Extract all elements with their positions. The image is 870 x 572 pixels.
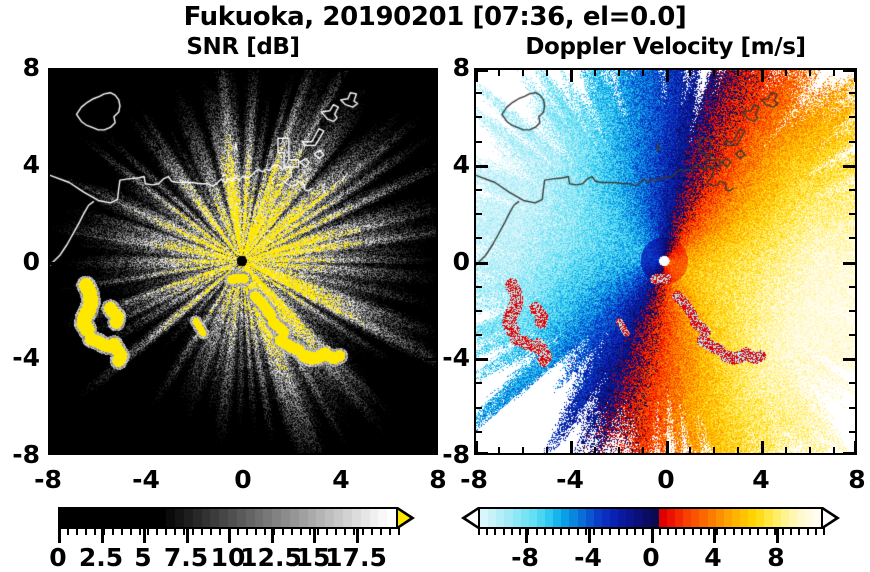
x-minor-tick — [267, 447, 269, 455]
colorbar-swatch — [202, 509, 211, 527]
colorbar-swatch — [148, 509, 157, 527]
colorbar-minor-tick — [519, 527, 521, 535]
y-minor-tick — [474, 310, 482, 312]
colorbar-minor-tick — [626, 527, 628, 535]
y-minor-tick — [48, 334, 56, 336]
colorbar-minor-tick — [165, 527, 167, 535]
colorbar-minor-tick — [708, 527, 710, 535]
colorbar-swatch — [586, 509, 594, 527]
y-minor-tick — [48, 310, 56, 312]
y-minor-tick — [48, 286, 56, 288]
doppler-panel-title: Doppler Velocity [m/s] — [474, 33, 857, 61]
colorbar-minor-tick — [503, 527, 505, 535]
colorbar-major-tick — [525, 527, 528, 543]
y-tick-label: -4 — [0, 345, 40, 370]
x-minor-tick — [414, 447, 416, 455]
x-minor-tick — [785, 447, 787, 455]
x-minor-tick — [292, 447, 294, 455]
colorbar-minor-tick — [192, 527, 194, 535]
x-major-tick — [146, 68, 149, 82]
x-minor-tick — [642, 68, 644, 76]
x-tick-label: 0 — [203, 467, 283, 492]
colorbar-swatch — [87, 509, 96, 527]
colorbar-swatch — [219, 509, 228, 527]
x-minor-tick — [316, 68, 318, 76]
x-minor-tick — [618, 447, 620, 455]
y-major-tick — [843, 358, 857, 361]
colorbar-minor-tick — [76, 527, 78, 535]
x-tick-label: 4 — [301, 467, 381, 492]
colorbar-swatch — [60, 509, 69, 527]
colorbar-major-tick — [776, 527, 779, 543]
colorbar-swatch — [732, 509, 740, 527]
x-minor-tick — [97, 68, 99, 76]
y-minor-tick — [474, 407, 482, 409]
y-minor-tick — [849, 310, 857, 312]
colorbar-swatch — [513, 509, 521, 527]
y-major-tick — [474, 165, 488, 168]
x-minor-tick — [713, 447, 715, 455]
colorbar-minor-tick — [112, 527, 114, 535]
x-minor-tick — [785, 68, 787, 76]
y-minor-tick — [430, 286, 438, 288]
colorbar-major-tick — [588, 527, 591, 543]
y-major-tick — [843, 452, 857, 455]
x-minor-tick — [737, 68, 739, 76]
y-tick-label: 4 — [430, 152, 470, 177]
y-minor-tick — [430, 382, 438, 384]
y-minor-tick — [430, 407, 438, 409]
x-minor-tick — [389, 447, 391, 455]
colorbar-minor-tick — [147, 527, 149, 535]
x-minor-tick — [546, 68, 548, 76]
colorbar-swatch — [325, 509, 334, 527]
colorbar-swatch — [78, 509, 87, 527]
colorbar-swatch — [104, 509, 113, 527]
colorbar-swatch — [316, 509, 325, 527]
colorbar-minor-tick — [749, 527, 751, 535]
colorbar-swatch — [352, 509, 361, 527]
colorbar-minor-tick — [389, 527, 391, 535]
colorbar-swatch — [659, 509, 667, 527]
colorbar-minor-tick — [174, 527, 176, 535]
y-minor-tick — [474, 286, 482, 288]
colorbar-minor-tick — [815, 527, 817, 535]
colorbar-minor-tick — [219, 527, 221, 535]
colorbar-minor-tick — [237, 527, 239, 535]
colorbar-minor-tick — [544, 527, 546, 535]
x-minor-tick — [498, 447, 500, 455]
colorbar-swatch — [561, 509, 569, 527]
x-major-tick — [243, 68, 246, 82]
y-minor-tick — [849, 407, 857, 409]
colorbar-minor-tick — [560, 527, 562, 535]
y-major-tick — [48, 165, 62, 168]
x-minor-tick — [498, 68, 500, 76]
y-tick-label: -8 — [0, 442, 40, 467]
colorbar-minor-tick — [335, 527, 337, 535]
colorbar-minor-tick — [300, 527, 302, 535]
colorbar-swatch — [724, 509, 732, 527]
y-major-tick — [474, 358, 488, 361]
colorbar-swatch — [131, 509, 140, 527]
colorbar-minor-tick — [183, 527, 185, 535]
colorbar-major-tick — [651, 527, 654, 543]
colorbar-minor-tick — [494, 527, 496, 535]
colorbar-swatch — [634, 509, 642, 527]
colorbar-minor-tick — [618, 527, 620, 535]
colorbar-swatch — [290, 509, 299, 527]
colorbar-swatch — [246, 509, 255, 527]
colorbar-swatch — [193, 509, 202, 527]
colorbar-major-tick — [356, 527, 359, 543]
y-minor-tick — [849, 213, 857, 215]
colorbar-swatch — [764, 509, 772, 527]
colorbar-minor-tick — [568, 527, 570, 535]
colorbar-swatch — [480, 509, 488, 527]
colorbar-minor-tick — [823, 527, 825, 535]
colorbar-minor-tick — [139, 527, 141, 535]
y-minor-tick — [474, 237, 482, 239]
doppler-colorbar-over-arrow-fill — [823, 510, 835, 526]
colorbar-swatch — [675, 509, 683, 527]
x-major-tick — [570, 68, 573, 82]
y-minor-tick — [849, 141, 857, 143]
colorbar-swatch — [521, 509, 529, 527]
y-major-tick — [474, 452, 488, 455]
x-minor-tick — [389, 68, 391, 76]
colorbar-minor-tick — [478, 527, 480, 535]
x-minor-tick — [316, 447, 318, 455]
x-minor-tick — [594, 447, 596, 455]
colorbar-swatch — [708, 509, 716, 527]
colorbar-minor-tick — [798, 527, 800, 535]
x-minor-tick — [833, 68, 835, 76]
y-minor-tick — [430, 92, 438, 94]
colorbar-minor-tick — [130, 527, 132, 535]
x-minor-tick — [72, 68, 74, 76]
x-minor-tick — [170, 447, 172, 455]
colorbar-swatch — [805, 509, 813, 527]
colorbar-minor-tick — [659, 527, 661, 535]
colorbar-minor-tick — [782, 527, 784, 535]
x-tick-label: 0 — [626, 467, 706, 492]
colorbar-minor-tick — [94, 527, 96, 535]
colorbar-minor-tick — [326, 527, 328, 535]
colorbar-swatch — [113, 509, 122, 527]
y-minor-tick — [430, 310, 438, 312]
colorbar-swatch — [578, 509, 586, 527]
y-minor-tick — [474, 334, 482, 336]
colorbar-minor-tick — [733, 527, 735, 535]
colorbar-swatch — [537, 509, 545, 527]
colorbar-swatch — [651, 509, 659, 527]
colorbar-swatch — [210, 509, 219, 527]
doppler-colorbar-under-arrow-fill — [466, 510, 478, 526]
colorbar-minor-tick — [667, 527, 669, 535]
colorbar-minor-tick — [675, 527, 677, 535]
colorbar-minor-tick — [741, 527, 743, 535]
page-title: Fukuoka, 20190201 [07:36, el=0.0] — [0, 0, 870, 34]
colorbar-minor-tick — [371, 527, 373, 535]
y-minor-tick — [849, 382, 857, 384]
colorbar-swatch — [263, 509, 272, 527]
colorbar-swatch — [594, 509, 602, 527]
y-major-tick — [474, 69, 488, 72]
colorbar-minor-tick — [201, 527, 203, 535]
colorbar-minor-tick — [552, 527, 554, 535]
colorbar-minor-tick — [264, 527, 266, 535]
x-minor-tick — [365, 68, 367, 76]
doppler-colorbar[interactable]: -8-4048 — [478, 507, 823, 567]
x-tick-label: -8 — [434, 467, 514, 492]
colorbar-swatch — [334, 509, 343, 527]
y-minor-tick — [430, 116, 438, 118]
x-minor-tick — [522, 447, 524, 455]
y-minor-tick — [849, 334, 857, 336]
colorbar-swatch — [184, 509, 193, 527]
colorbar-major-tick — [143, 527, 146, 543]
y-minor-tick — [849, 237, 857, 239]
y-minor-tick — [849, 92, 857, 94]
colorbar-swatch — [361, 509, 370, 527]
colorbar-swatch — [255, 509, 264, 527]
colorbar-swatch — [610, 509, 618, 527]
y-minor-tick — [474, 382, 482, 384]
y-major-tick — [48, 452, 62, 455]
x-major-tick — [666, 441, 669, 455]
colorbar-minor-tick — [85, 527, 87, 535]
x-minor-tick — [219, 447, 221, 455]
x-major-tick — [666, 68, 669, 82]
x-minor-tick — [219, 68, 221, 76]
x-minor-tick — [618, 68, 620, 76]
y-minor-tick — [474, 92, 482, 94]
x-major-tick — [146, 441, 149, 455]
colorbar-swatch — [387, 509, 396, 527]
colorbar-swatch — [272, 509, 281, 527]
colorbar-minor-tick — [536, 527, 538, 535]
colorbar-minor-tick — [634, 527, 636, 535]
colorbar-swatch — [667, 509, 675, 527]
y-minor-tick — [48, 382, 56, 384]
y-minor-tick — [474, 189, 482, 191]
y-minor-tick — [48, 213, 56, 215]
colorbar-swatch — [299, 509, 308, 527]
colorbar-minor-tick — [577, 527, 579, 535]
y-minor-tick — [48, 116, 56, 118]
y-minor-tick — [849, 431, 857, 433]
colorbar-swatch — [122, 509, 131, 527]
x-minor-tick — [365, 447, 367, 455]
snr-panel-title: SNR [dB] — [48, 33, 438, 61]
y-minor-tick — [48, 92, 56, 94]
colorbar-minor-tick — [790, 527, 792, 535]
y-major-tick — [843, 262, 857, 265]
x-minor-tick — [833, 447, 835, 455]
colorbar-swatch — [281, 509, 290, 527]
colorbar-minor-tick — [511, 527, 513, 535]
y-tick-label: -8 — [430, 442, 470, 467]
y-major-tick — [48, 358, 62, 361]
x-minor-tick — [72, 447, 74, 455]
y-major-tick — [843, 69, 857, 72]
colorbar-swatch — [813, 509, 821, 527]
colorbar-swatch — [683, 509, 691, 527]
x-minor-tick — [689, 68, 691, 76]
y-minor-tick — [474, 213, 482, 215]
y-minor-tick — [48, 431, 56, 433]
x-major-tick — [243, 441, 246, 455]
doppler-plot-panel[interactable] — [474, 68, 857, 455]
colorbar-swatch — [157, 509, 166, 527]
colorbar-minor-tick — [309, 527, 311, 535]
colorbar-minor-tick — [156, 527, 158, 535]
y-minor-tick — [849, 116, 857, 118]
colorbar-minor-tick — [609, 527, 611, 535]
colorbar-minor-tick — [291, 527, 293, 535]
colorbar-swatch — [343, 509, 352, 527]
colorbar-minor-tick — [362, 527, 364, 535]
x-minor-tick — [713, 68, 715, 76]
colorbar-minor-tick — [380, 527, 382, 535]
colorbar-major-tick — [313, 527, 316, 543]
colorbar-swatch — [740, 509, 748, 527]
x-minor-tick — [194, 68, 196, 76]
snr-colorbar-over-arrow-fill — [398, 510, 410, 526]
x-minor-tick — [121, 68, 123, 76]
colorbar-minor-tick — [344, 527, 346, 535]
x-minor-tick — [414, 68, 416, 76]
colorbar-swatch — [643, 509, 651, 527]
colorbar-swatch — [496, 509, 504, 527]
y-major-tick — [48, 69, 62, 72]
x-major-tick — [570, 441, 573, 455]
y-tick-label: 4 — [0, 152, 40, 177]
y-minor-tick — [430, 237, 438, 239]
colorbar-minor-tick — [317, 527, 319, 535]
x-major-tick — [341, 68, 344, 82]
x-major-tick — [761, 68, 764, 82]
colorbar-swatch — [545, 509, 553, 527]
colorbar-minor-tick — [486, 527, 488, 535]
colorbar-swatch — [95, 509, 104, 527]
colorbar-minor-tick — [700, 527, 702, 535]
y-minor-tick — [430, 189, 438, 191]
colorbar-swatch — [602, 509, 610, 527]
x-minor-tick — [546, 447, 548, 455]
x-tick-label: 4 — [721, 467, 801, 492]
y-tick-label: 0 — [0, 249, 40, 274]
y-minor-tick — [474, 141, 482, 143]
colorbar-swatch — [166, 509, 175, 527]
x-minor-tick — [642, 447, 644, 455]
y-major-tick — [48, 262, 62, 265]
colorbar-minor-tick — [716, 527, 718, 535]
y-minor-tick — [48, 407, 56, 409]
colorbar-major-tick — [713, 527, 716, 543]
colorbar-major-tick — [228, 527, 231, 543]
colorbar-swatch — [618, 509, 626, 527]
colorbar-swatch — [69, 509, 78, 527]
x-tick-label: 8 — [817, 467, 870, 492]
colorbar-minor-tick — [766, 527, 768, 535]
colorbar-swatch — [781, 509, 789, 527]
colorbar-swatch — [175, 509, 184, 527]
colorbar-swatch — [699, 509, 707, 527]
colorbar-swatch — [308, 509, 317, 527]
y-minor-tick — [849, 189, 857, 191]
x-minor-tick — [292, 68, 294, 76]
y-minor-tick — [430, 334, 438, 336]
y-tick-label: 8 — [430, 55, 470, 80]
x-minor-tick — [809, 68, 811, 76]
colorbar-minor-tick — [255, 527, 257, 535]
x-minor-tick — [97, 447, 99, 455]
colorbar-minor-tick — [807, 527, 809, 535]
y-minor-tick — [48, 141, 56, 143]
colorbar-major-tick — [58, 527, 61, 543]
snr-radar-image — [50, 70, 436, 453]
x-minor-tick — [170, 68, 172, 76]
doppler-colorbar-gradient — [478, 507, 823, 529]
snr-plot-panel[interactable] — [48, 68, 438, 455]
y-minor-tick — [48, 189, 56, 191]
colorbar-minor-tick — [121, 527, 123, 535]
colorbar-minor-tick — [398, 527, 400, 535]
colorbar-minor-tick — [585, 527, 587, 535]
colorbar-swatch — [691, 509, 699, 527]
y-minor-tick — [430, 141, 438, 143]
colorbar-minor-tick — [724, 527, 726, 535]
colorbar-swatch — [370, 509, 379, 527]
colorbar-swatch — [716, 509, 724, 527]
x-tick-label: -4 — [106, 467, 186, 492]
snr-colorbar-gradient — [58, 507, 398, 529]
colorbar-minor-tick — [282, 527, 284, 535]
colorbar-minor-tick — [642, 527, 644, 535]
colorbar-minor-tick — [601, 527, 603, 535]
y-tick-label: 0 — [430, 249, 470, 274]
y-minor-tick — [430, 431, 438, 433]
y-major-tick — [843, 165, 857, 168]
colorbar-swatch — [504, 509, 512, 527]
colorbar-minor-tick — [683, 527, 685, 535]
colorbar-minor-tick — [692, 527, 694, 535]
x-major-tick — [761, 441, 764, 455]
colorbar-swatch — [140, 509, 149, 527]
x-minor-tick — [267, 68, 269, 76]
colorbar-swatch — [553, 509, 561, 527]
colorbar-swatch — [529, 509, 537, 527]
colorbar-major-tick — [271, 527, 274, 543]
x-minor-tick — [194, 447, 196, 455]
y-minor-tick — [48, 237, 56, 239]
x-minor-tick — [737, 447, 739, 455]
x-minor-tick — [522, 68, 524, 76]
colorbar-minor-tick — [353, 527, 355, 535]
colorbar-minor-tick — [593, 527, 595, 535]
colorbar-swatch — [237, 509, 246, 527]
y-minor-tick — [474, 431, 482, 433]
x-minor-tick — [809, 447, 811, 455]
colorbar-swatch — [789, 509, 797, 527]
x-tick-label: -4 — [530, 467, 610, 492]
snr-colorbar[interactable]: 02.557.51012.51517.5 — [58, 507, 398, 567]
colorbar-swatch — [488, 509, 496, 527]
y-minor-tick — [474, 116, 482, 118]
colorbar-major-tick — [186, 527, 189, 543]
